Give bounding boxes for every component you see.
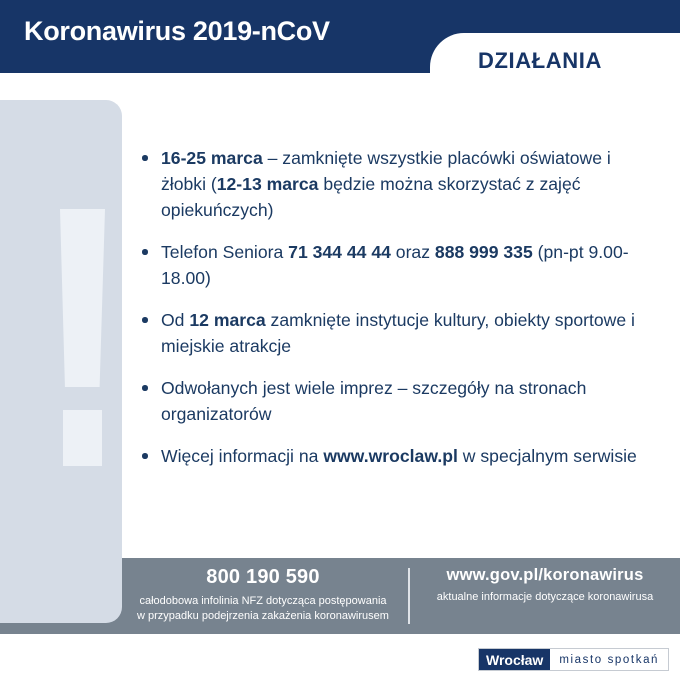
hotline-description: całodobowa infolinia NFZ dotycząca postę… [122, 594, 404, 624]
footer-divider [408, 568, 410, 624]
gov-website-url[interactable]: www.gov.pl/koronawirus [420, 566, 670, 585]
bullet-item: Odwołanych jest wiele imprez – szczegóły… [140, 375, 660, 427]
bullet-dot-icon [142, 385, 148, 391]
hotline-description-line2: w przypadku podejrzenia zakażenia korona… [122, 609, 404, 624]
hotline-number: 800 190 590 [122, 566, 404, 589]
bullet-dot-icon [142, 453, 148, 459]
bullet-item: Więcej informacji na www.wroclaw.pl w sp… [140, 443, 660, 469]
hotline-description-line1: całodobowa infolinia NFZ dotycząca postę… [122, 594, 404, 609]
bullet-item: 16-25 marca – zamknięte wszystkie placów… [140, 145, 660, 223]
gov-website-description: aktualne informacje dotyczące koronawiru… [420, 590, 670, 605]
page-title: Koronawirus 2019-nCoV [24, 16, 330, 47]
bullet-text: Odwołanych jest wiele imprez – szczegóły… [161, 378, 586, 424]
bullet-list: 16-25 marca – zamknięte wszystkie placów… [140, 145, 660, 469]
gov-website-description-line1: aktualne informacje dotyczące koronawiru… [420, 590, 670, 605]
footer-hotline-column: 800 190 590 całodobowa infolinia NFZ dot… [122, 566, 404, 624]
footer-content: 800 190 590 całodobowa infolinia NFZ dot… [0, 558, 680, 634]
footer-website-column: www.gov.pl/koronawirus aktualne informac… [420, 566, 670, 605]
wroclaw-logo-tagline: miasto spotkań [550, 649, 668, 670]
bullet-text: 16-25 marca – zamknięte wszystkie placów… [161, 148, 611, 220]
bullet-text: Telefon Seniora 71 344 44 44 oraz 888 99… [161, 242, 629, 288]
bullet-dot-icon [142, 155, 148, 161]
bullet-item: Od 12 marca zamknięte instytucje kultury… [140, 307, 660, 359]
wroclaw-logo: Wrocław miasto spotkań [478, 648, 669, 671]
section-label: DZIAŁANIA [478, 48, 602, 74]
bullet-text: Od 12 marca zamknięte instytucje kultury… [161, 310, 635, 356]
bullet-dot-icon [142, 249, 148, 255]
bullet-text: Więcej informacji na www.wroclaw.pl w sp… [161, 446, 637, 466]
wroclaw-logo-mark: Wrocław [479, 649, 550, 670]
infographic-poster: Koronawirus 2019-nCoV DZIAŁANIA 16-25 ma… [0, 0, 680, 680]
bullet-item: Telefon Seniora 71 344 44 44 oraz 888 99… [140, 239, 660, 291]
side-decoration-panel [0, 100, 122, 623]
bullet-dot-icon [142, 317, 148, 323]
exclamation-dot-icon [63, 410, 102, 466]
